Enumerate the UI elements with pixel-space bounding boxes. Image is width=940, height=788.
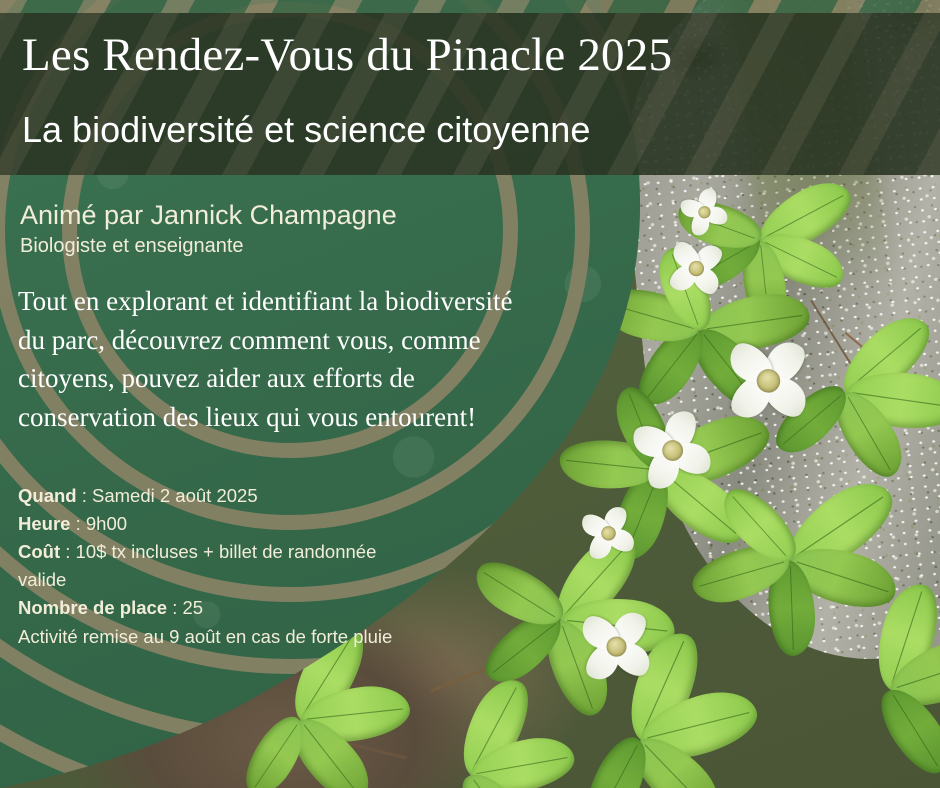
detail-value-cost: : 10$ tx incluses + billet de randonnée … [18, 541, 376, 590]
presenter-name: Animé par Jannick Champagne [20, 200, 397, 230]
detail-label-when: Quand [18, 485, 77, 506]
detail-value-time: : 9h00 [70, 513, 127, 534]
detail-value-when: : Samedi 2 août 2025 [77, 485, 258, 506]
detail-label-time: Heure [18, 513, 70, 534]
event-details: Quand : Samedi 2 août 2025 Heure : 9h00 … [18, 482, 418, 651]
detail-value-places: : 25 [167, 597, 203, 618]
page-title: Les Rendez-Vous du Pinacle 2025 [22, 30, 672, 81]
body-copy: Tout en explorant et identifiant la biod… [18, 282, 530, 436]
detail-label-cost: Coût [18, 541, 60, 562]
poster-content: Les Rendez-Vous du Pinacle 2025 La biodi… [0, 0, 940, 788]
detail-rain-note: Activité remise au 9 août en cas de fort… [18, 623, 418, 651]
page-subtitle: La biodiversité et science citoyenne [22, 110, 590, 150]
detail-row-when: Quand : Samedi 2 août 2025 [18, 482, 418, 510]
detail-row-cost: Coût : 10$ tx incluses + billet de rando… [18, 538, 418, 594]
presenter-role: Biologiste et enseignante [20, 235, 244, 258]
event-poster: Les Rendez-Vous du Pinacle 2025 La biodi… [0, 0, 940, 788]
detail-row-places: Nombre de place : 25 [18, 594, 418, 622]
detail-row-time: Heure : 9h00 [18, 510, 418, 538]
detail-label-places: Nombre de place [18, 597, 167, 618]
